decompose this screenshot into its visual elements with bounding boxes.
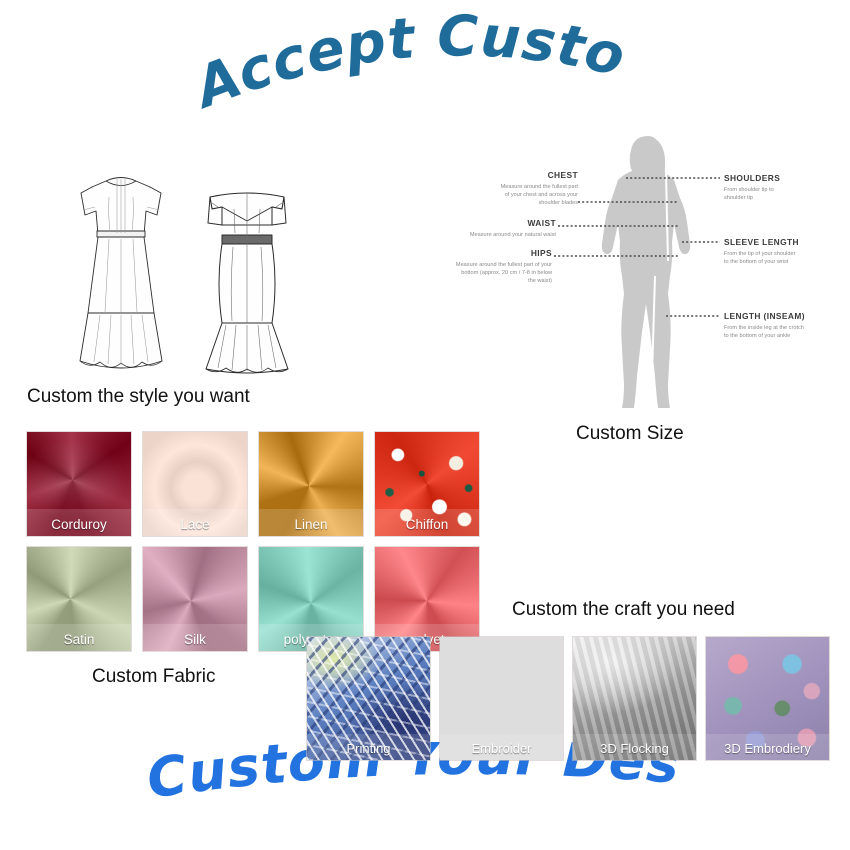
- svg-text:of your chest and across your: of your chest and across your: [505, 192, 579, 198]
- svg-text:From the inside leg at the cro: From the inside leg at the crotch: [724, 325, 804, 331]
- promo-banner: Accept Custom: [0, 0, 850, 850]
- svg-text:Measure around the fullest par: Measure around the fullest part of your: [456, 262, 552, 268]
- measurement-label-shoulders: SHOULDERS From shoulder tip to shoulder …: [724, 173, 780, 201]
- fabric-swatch-corduroy[interactable]: Corduroy: [27, 432, 131, 536]
- measurement-label-hips: HIPS Measure around the fullest part of …: [456, 248, 553, 284]
- fabric-swatch-chiffon[interactable]: Chiffon: [375, 432, 479, 536]
- swatch-label: Printing: [307, 741, 430, 756]
- dress-sketch-short-sleeve-maxi: [62, 163, 180, 378]
- swatch-label: Embroider: [440, 741, 563, 756]
- craft-swatch-flocking[interactable]: 3D Flocking: [573, 637, 696, 760]
- caption-custom-fabric: Custom Fabric: [92, 666, 216, 688]
- svg-text:SHOULDERS: SHOULDERS: [724, 173, 780, 183]
- fabric-swatch-lace[interactable]: Lace: [143, 432, 247, 536]
- fabric-swatch-silk[interactable]: Silk: [143, 547, 247, 651]
- caption-custom-size: Custom Size: [576, 423, 684, 445]
- measurement-label-chest: CHEST Measure around the fullest part of…: [501, 170, 579, 206]
- swatch-label: Satin: [27, 632, 131, 647]
- top-headline: Accept Custom: [0, 0, 850, 120]
- svg-text:WAIST: WAIST: [527, 218, 556, 228]
- svg-text:CHEST: CHEST: [548, 170, 579, 180]
- top-headline-text: Accept Custom: [0, 0, 632, 120]
- svg-text:shoulder blades: shoulder blades: [539, 200, 579, 206]
- measurement-label-waist: WAIST Measure around your natural waist: [470, 218, 557, 238]
- caption-custom-craft: Custom the craft you need: [512, 599, 735, 621]
- swatch-label: Chiffon: [375, 517, 479, 532]
- svg-text:shoulder tip: shoulder tip: [724, 195, 753, 201]
- svg-text:Measure around the fullest par: Measure around the fullest part: [501, 184, 579, 190]
- swatch-label: Corduroy: [27, 517, 131, 532]
- craft-swatch-embrodiery[interactable]: 3D Embrodiery: [706, 637, 829, 760]
- svg-text:bottom (approx. 20 cm / 7-8 in: bottom (approx. 20 cm / 7-8 in below: [461, 270, 553, 276]
- svg-text:Measure around your natural wa: Measure around your natural waist: [470, 232, 557, 238]
- svg-text:From the tip of your shoulder: From the tip of your shoulder: [724, 251, 796, 257]
- svg-text:From shoulder tip to: From shoulder tip to: [724, 187, 774, 193]
- svg-text:the waist): the waist): [528, 278, 552, 284]
- craft-swatch-printing[interactable]: Printing: [307, 637, 430, 760]
- svg-text:SLEEVE LENGTH: SLEEVE LENGTH: [724, 237, 799, 247]
- fabric-swatch-linen[interactable]: Linen: [259, 432, 363, 536]
- fabric-swatch-polyester[interactable]: polyester: [259, 547, 363, 651]
- swatch-label: 3D Embrodiery: [706, 741, 829, 756]
- female-silhouette: [602, 136, 690, 408]
- fabric-swatch-velvet[interactable]: velvet: [375, 547, 479, 651]
- swatch-label: Linen: [259, 517, 363, 532]
- size-measurement-chart: CHEST Measure around the fullest part of…: [452, 126, 844, 418]
- dress-sketch-offshoulder-mermaid: [188, 163, 306, 378]
- measurement-label-sleeve-length: SLEEVE LENGTH From the tip of your shoul…: [724, 237, 799, 265]
- swatch-label: 3D Flocking: [573, 741, 696, 756]
- measurement-label-length-inseam: LENGTH (INSEAM) From the inside leg at t…: [724, 311, 805, 339]
- svg-text:LENGTH (INSEAM): LENGTH (INSEAM): [724, 311, 805, 321]
- svg-text:to the bottom of your ankle: to the bottom of your ankle: [724, 333, 790, 339]
- svg-text:to the bottom of your wrist: to the bottom of your wrist: [724, 259, 789, 265]
- swatch-label: Silk: [143, 632, 247, 647]
- fabric-swatch-satin[interactable]: Satin: [27, 547, 131, 651]
- swatch-label: Lace: [143, 517, 247, 532]
- caption-custom-style: Custom the style you want: [27, 386, 250, 408]
- svg-text:HIPS: HIPS: [531, 248, 552, 258]
- craft-swatch-embroider[interactable]: Embroider: [440, 637, 563, 760]
